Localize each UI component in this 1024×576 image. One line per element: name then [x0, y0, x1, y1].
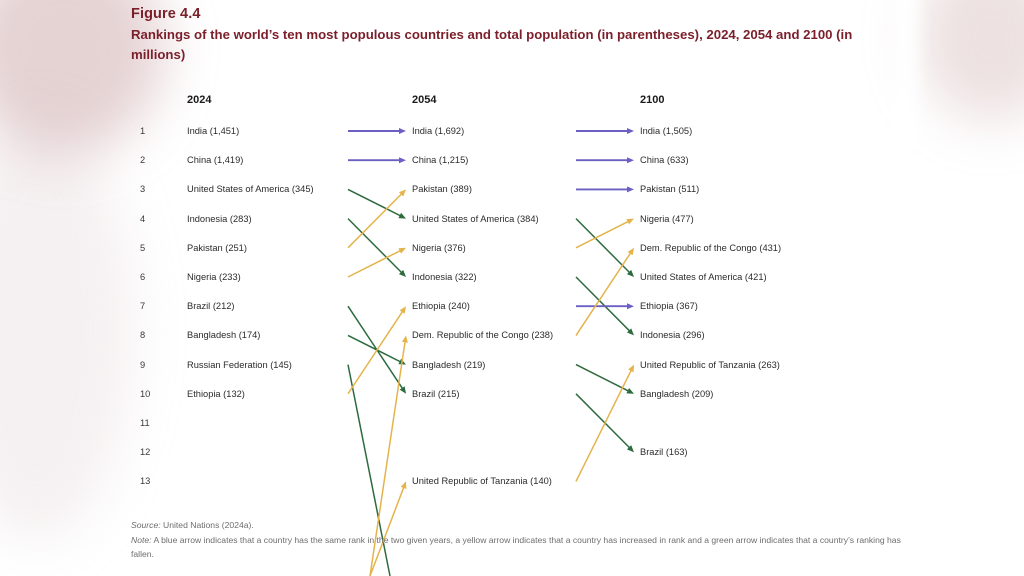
arrow-head: [399, 270, 406, 277]
country-entry: Bangladesh (209): [640, 389, 713, 399]
arrow-2054-to-2100: [576, 219, 634, 277]
country-entry: China (633): [640, 155, 689, 165]
country-entry: United States of America (384): [412, 214, 539, 224]
arrow-shaft: [576, 219, 631, 275]
explanatory-note: Note: A blue arrow indicates that a coun…: [131, 534, 906, 561]
country-entry: Nigeria (233): [187, 272, 241, 282]
arrow-head: [398, 359, 406, 365]
arrow-head: [399, 128, 406, 134]
arrow-2024-to-2054: [348, 189, 406, 247]
country-entry: India (1,505): [640, 126, 692, 136]
figure-title: Rankings of the world’s ten most populou…: [131, 25, 891, 65]
note-label: Note:: [131, 535, 152, 545]
arrow-2054-to-2100: [576, 186, 634, 192]
country-entry: China (1,215): [412, 155, 468, 165]
arrow-2024-to-2054: [348, 306, 406, 394]
rank-number: 1: [140, 126, 145, 136]
arrow-head: [400, 306, 406, 313]
arrow-head: [626, 219, 634, 225]
arrow-shaft: [576, 277, 631, 333]
country-entry: Ethiopia (367): [640, 301, 698, 311]
rank-number: 4: [140, 214, 145, 224]
scan-vignette-left-lower: [0, 120, 132, 540]
column-header-2024: 2024: [187, 94, 211, 106]
rank-number: 9: [140, 360, 145, 370]
arrow-2024-to-2054: [348, 219, 406, 277]
arrow-shaft: [576, 394, 631, 450]
country-entry: Indonesia (296): [640, 330, 705, 340]
arrow-2054-to-2100: [576, 303, 634, 309]
scan-vignette-right: [916, 0, 1024, 122]
country-entry: Ethiopia (240): [412, 301, 470, 311]
arrow-2054-to-2100: [576, 365, 634, 394]
rank-number: 7: [140, 301, 145, 311]
country-entry: Nigeria (477): [640, 214, 694, 224]
arrow-2054-to-2100: [576, 277, 634, 335]
column-header-2100: 2100: [640, 94, 664, 106]
arrow-head: [400, 386, 406, 393]
rank-number: 3: [140, 184, 145, 194]
country-entry: Dem. Republic of the Congo (238): [412, 330, 553, 340]
country-entry: United States of America (345): [187, 184, 314, 194]
arrow-shaft: [348, 309, 404, 393]
column-header-2054: 2054: [412, 94, 436, 106]
arrow-shaft: [348, 192, 403, 248]
source-note: Source: United Nations (2024a).: [131, 519, 906, 533]
arrow-2054-to-2100: [576, 157, 634, 163]
rank-number: 6: [140, 272, 145, 282]
rank-number: 5: [140, 243, 145, 253]
arrow-shaft: [348, 335, 403, 362]
arrow-2024-to-2054: [348, 128, 406, 134]
note-text: A blue arrow indicates that a country ha…: [131, 535, 901, 559]
arrow-head: [399, 157, 406, 163]
arrow-head: [627, 186, 634, 192]
figure-number: Figure 4.4: [131, 6, 201, 22]
arrow-2024-to-2054: [348, 335, 406, 364]
country-entry: Russian Federation (145): [187, 360, 292, 370]
country-entry: India (1,692): [412, 126, 464, 136]
rank-number: 2: [140, 155, 145, 165]
arrow-shaft: [348, 219, 403, 275]
country-entry: Bangladesh (174): [187, 330, 260, 340]
arrow-2054-to-2100: [576, 248, 634, 336]
arrow-shaft: [576, 368, 632, 481]
country-entry: United Republic of Tanzania (140): [412, 476, 552, 486]
rank-number: 12: [140, 447, 150, 457]
country-entry: Pakistan (389): [412, 184, 472, 194]
country-entry: Brazil (215): [412, 389, 460, 399]
rank-number: 13: [140, 476, 150, 486]
arrow-2024-to-2054: [348, 189, 406, 218]
country-entry: China (1,419): [187, 155, 243, 165]
arrow-head: [402, 335, 408, 342]
country-entry: India (1,451): [187, 126, 239, 136]
arrow-head: [627, 270, 634, 277]
arrow-shaft: [348, 189, 403, 216]
arrow-head: [627, 128, 634, 134]
country-entry: United Republic of Tanzania (263): [640, 360, 780, 370]
arrow-head: [628, 248, 634, 255]
country-entry: Ethiopia (132): [187, 389, 245, 399]
rank-transition-arrows: [0, 0, 1024, 576]
arrow-head: [627, 328, 634, 335]
arrow-2024-to-2054: [348, 248, 406, 277]
arrow-head: [627, 303, 634, 309]
arrow-2024-to-2054: [348, 306, 406, 394]
rank-number: 8: [140, 330, 145, 340]
arrow-head: [628, 365, 634, 373]
arrow-shaft: [348, 250, 403, 277]
country-entry: Pakistan (251): [187, 243, 247, 253]
arrow-head: [626, 388, 634, 394]
arrow-2024-to-2054: [348, 157, 406, 163]
source-text: United Nations (2024a).: [161, 520, 254, 530]
country-entry: Brazil (212): [187, 301, 235, 311]
arrow-head: [399, 189, 406, 196]
arrow-shaft: [576, 365, 631, 392]
country-entry: Dem. Republic of the Congo (431): [640, 243, 781, 253]
rank-number: 10: [140, 389, 150, 399]
arrow-2054-to-2100: [576, 365, 634, 482]
arrow-2054-to-2100: [576, 219, 634, 248]
source-label: Source:: [131, 520, 161, 530]
arrow-head: [401, 481, 407, 489]
arrow-head: [627, 157, 634, 163]
country-entry: Pakistan (511): [640, 184, 699, 194]
country-entry: Indonesia (322): [412, 272, 477, 282]
arrow-shaft: [576, 220, 631, 247]
arrow-head: [627, 445, 634, 452]
arrow-2054-to-2100: [576, 394, 634, 452]
country-entry: Bangladesh (219): [412, 360, 485, 370]
country-entry: Brazil (163): [640, 447, 688, 457]
country-entry: United States of America (421): [640, 272, 767, 282]
scan-gutter-highlight: [892, 0, 918, 150]
arrow-shaft: [576, 251, 632, 335]
arrow-2054-to-2100: [576, 128, 634, 134]
arrow-head: [398, 213, 406, 219]
arrow-shaft: [348, 306, 404, 390]
country-entry: Indonesia (283): [187, 214, 252, 224]
arrow-head: [398, 248, 406, 254]
rank-number: 11: [140, 418, 150, 428]
figure-page: Figure 4.4 Rankings of the world’s ten m…: [0, 0, 1024, 576]
country-entry: Nigeria (376): [412, 243, 466, 253]
